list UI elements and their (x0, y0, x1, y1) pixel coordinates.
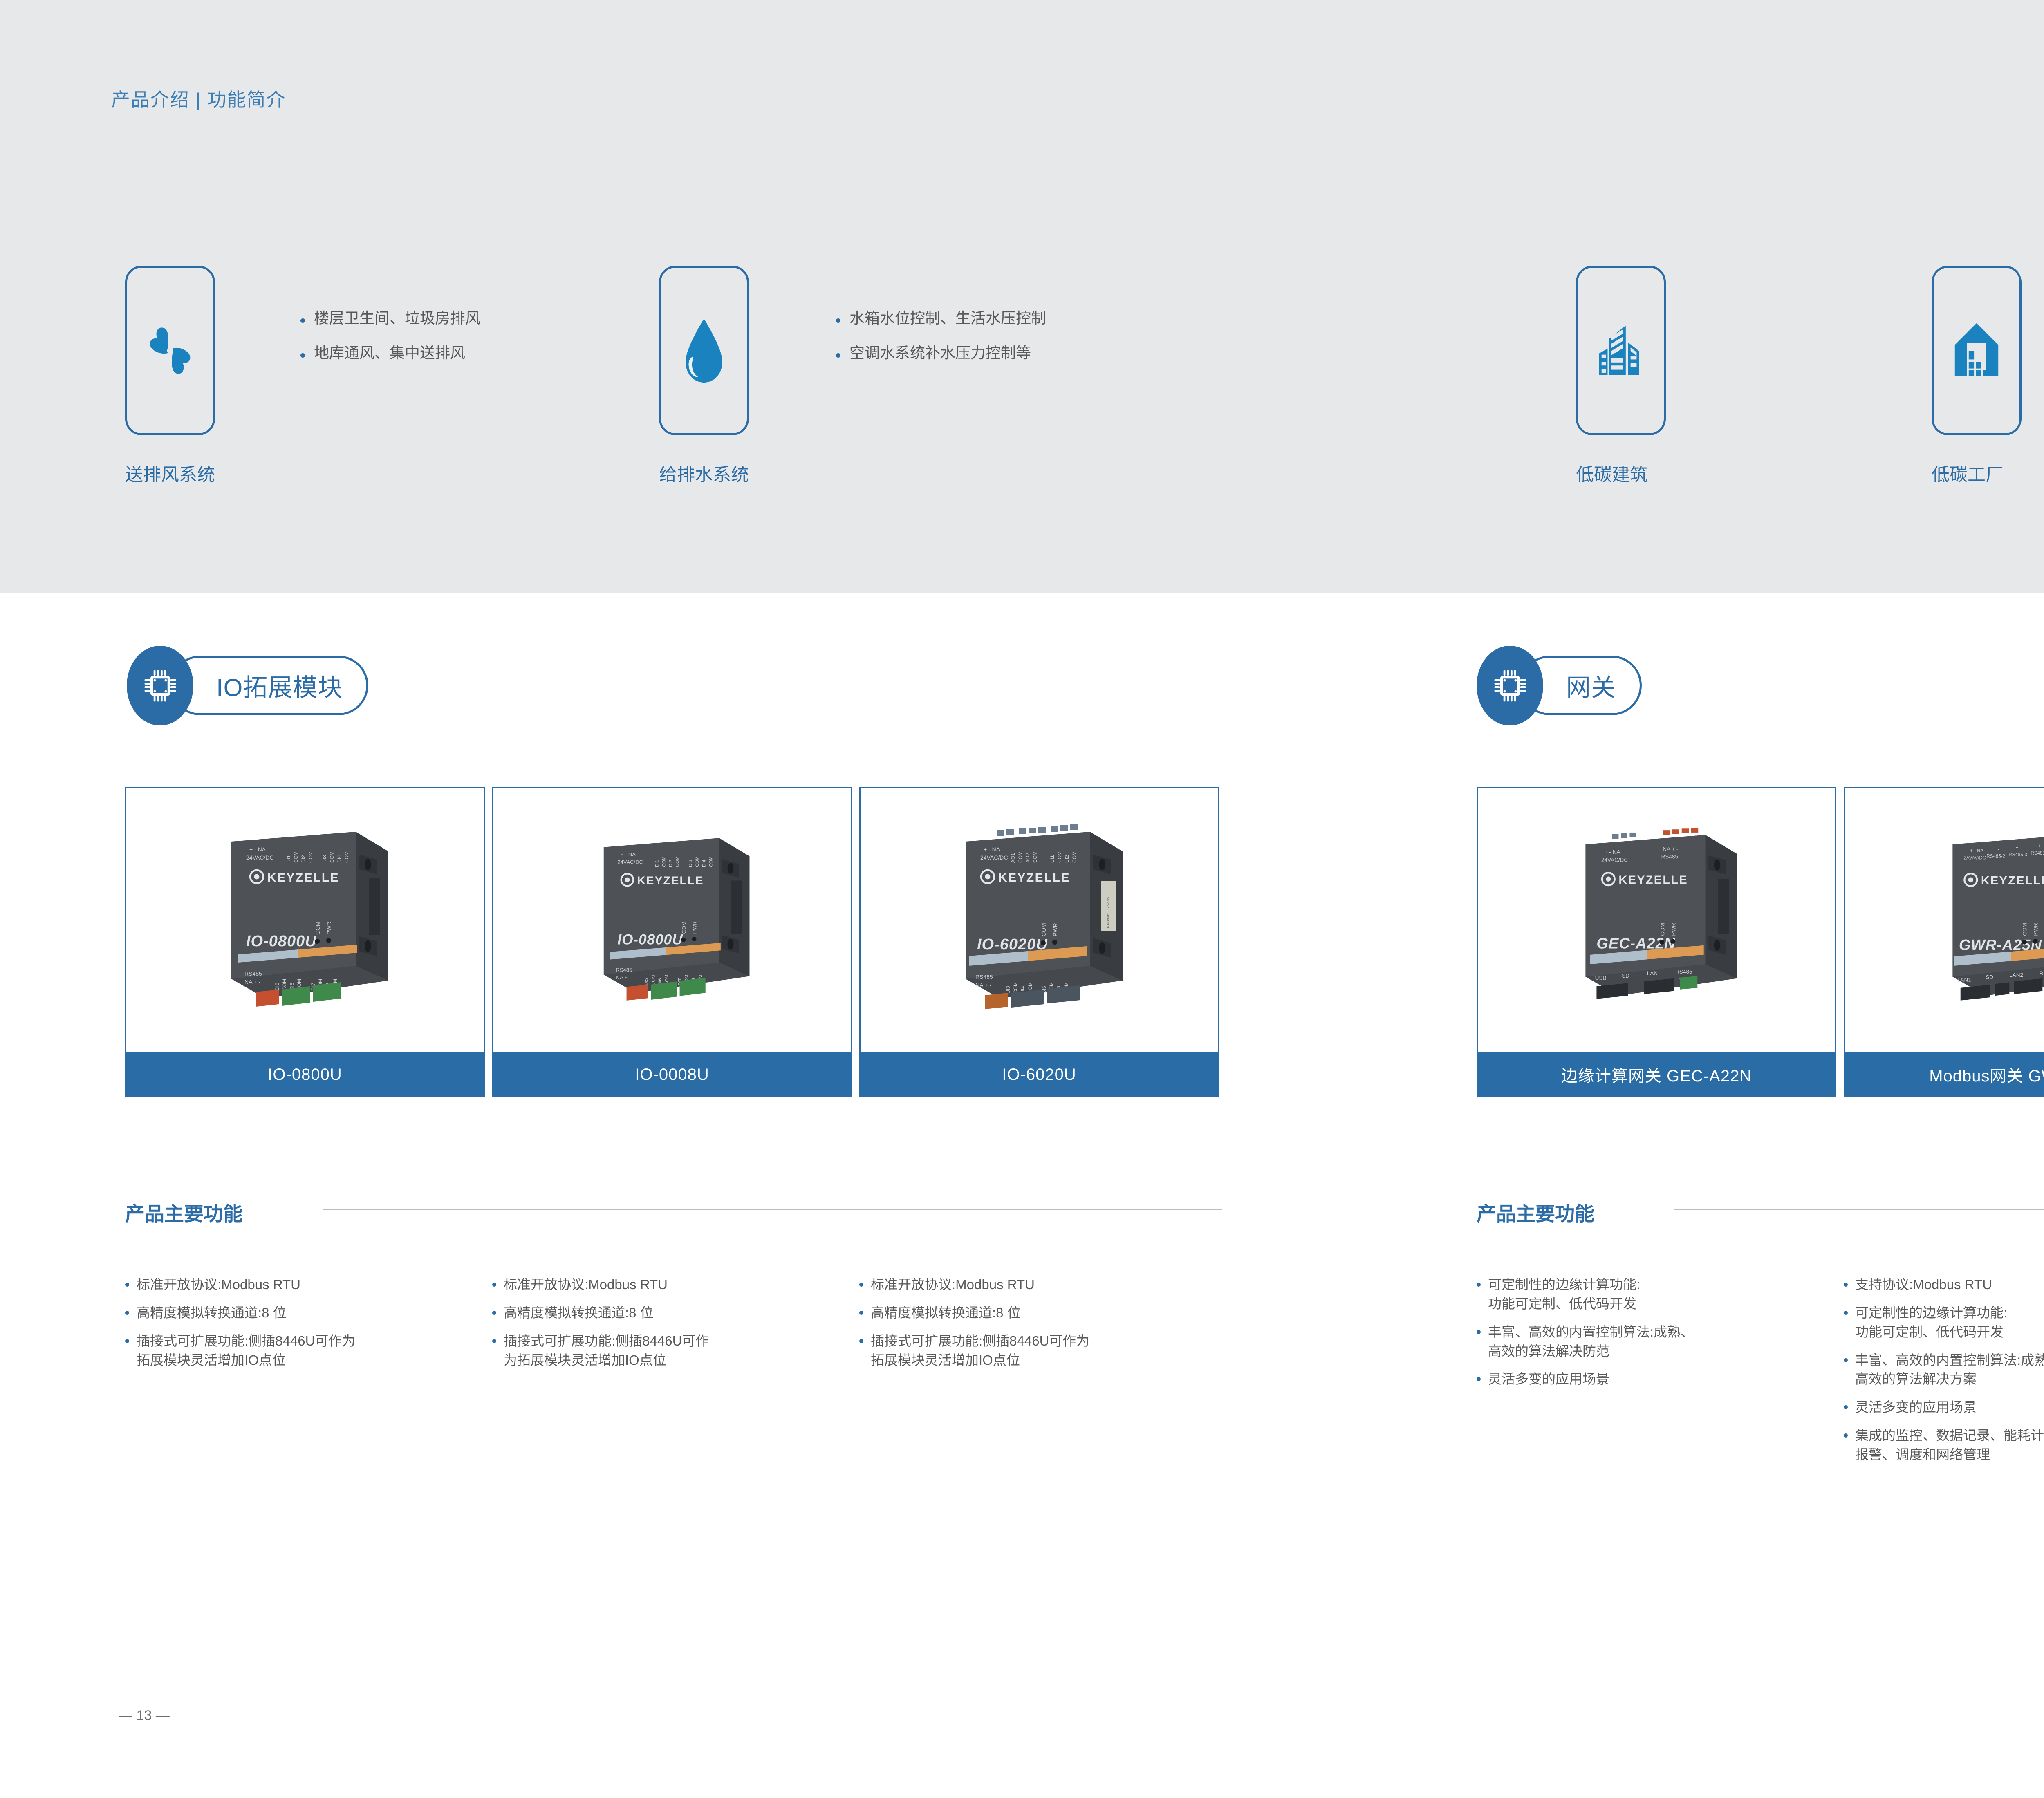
svg-text:COM: COM (1057, 851, 1062, 863)
svg-text:24VAC/DC: 24VAC/DC (246, 854, 273, 861)
features-title-io: 产品主要功能 (125, 1198, 243, 1226)
top-grey-band (0, 0, 2044, 593)
feature-column: 标准开放协议:Modbus RTU 高精度模拟转换通道:8 位 插接式可扩展功能… (125, 1275, 485, 1379)
svg-text:LAN: LAN (1647, 970, 1658, 976)
feature-text: 支持协议:Modbus RTU (1855, 1275, 1992, 1294)
svg-text:RS485: RS485 (244, 970, 262, 977)
feature-text: 高精度模拟转换通道:8 位 (871, 1303, 1021, 1323)
product-label: IO-6020U (1002, 1066, 1076, 1084)
app-tile-ventilation (125, 266, 215, 435)
bullet-dot-icon (492, 1311, 496, 1315)
feature-text: 标准开放协议:Modbus RTU (504, 1275, 668, 1294)
bullet-dot-icon (492, 1283, 496, 1287)
svg-text:COM: COM (308, 851, 314, 863)
feature-column: 标准开放协议:Modbus RTU 高精度模拟转换通道:8 位 插接式可扩展功能… (492, 1275, 852, 1379)
product-image-frame: + - NA 24VAC/DC DI1 COM DI2 COM DI3 COM … (125, 787, 485, 1052)
svg-text:+ - NA: + - NA (1970, 849, 1983, 853)
svg-text:COM: COM (2022, 923, 2028, 936)
svg-text:DI5: DI5 (274, 983, 280, 990)
svg-text:KEYZELLE: KEYZELLE (637, 874, 704, 887)
svg-text:+ -: + - (2038, 844, 2044, 849)
bullet-dot-icon (1477, 1330, 1481, 1334)
svg-text:UI1: UI1 (1049, 855, 1055, 863)
office-building-icon (1590, 316, 1652, 385)
svg-text:DI5: DI5 (644, 978, 649, 985)
feature-text: 高精度模拟转换通道:8 位 (504, 1303, 654, 1323)
bullet-dot-icon (492, 1339, 496, 1343)
svg-text:RS485-2: RS485-2 (1986, 854, 2005, 859)
bullet-dot-icon (1477, 1377, 1481, 1381)
svg-text:DI3: DI3 (688, 860, 693, 867)
bullet-dot-icon (1477, 1283, 1481, 1287)
device-photo-gwr-a25n: + - NA + - + - + - + - 2AVAV/DC RS485-2 … (1897, 810, 2044, 1030)
scenario-caption-building: 低碳建筑 (1576, 460, 1648, 486)
svg-text:COM: COM (314, 921, 321, 935)
svg-text:COM: COM (1040, 923, 1047, 936)
svg-text:IO-8446U RS485: IO-8446U RS485 (1106, 896, 1111, 928)
bullet-text: 地库通风、集中送排风 (314, 345, 465, 360)
svg-text:2AVAV/DC: 2AVAV/DC (1963, 855, 1986, 860)
feature-column: 支持协议:Modbus RTU 可定制性的边缘计算功能: 功能可定制、低代码开发… (1844, 1275, 2044, 1473)
svg-text:COM: COM (1659, 923, 1665, 936)
svg-text:COM: COM (681, 921, 687, 934)
svg-text:UI2: UI2 (1064, 855, 1070, 863)
bullet-dot-icon (125, 1311, 129, 1315)
section-badge-pill-io: IO拓展模块 (170, 656, 368, 715)
svg-text:NA + -: NA + - (1663, 846, 1678, 852)
microchip-icon (127, 646, 193, 725)
svg-text:SD: SD (1622, 972, 1629, 978)
svg-text:+ -: + - (2016, 845, 2022, 850)
product-label: 边缘计算网关 GEC-A22N (1561, 1063, 1752, 1086)
feature-column: 标准开放协议:Modbus RTU 高精度模拟转换通道:8 位 插接式可扩展功能… (859, 1275, 1219, 1379)
feature-text: 集成的监控、数据记录、能耗计量、 报警、调度和网络管理 (1855, 1426, 2044, 1464)
svg-text:24VAC/DC: 24VAC/DC (1601, 857, 1628, 863)
bullet-dot-icon (300, 353, 305, 358)
device-photo-gec-a22n: + - NA 24VAC/DC NA + - RS485 KEYZELLE GE… (1530, 810, 1783, 1030)
svg-text:IO-0800U: IO-0800U (246, 933, 317, 950)
product-label-bar: 边缘计算网关 GEC-A22N (1477, 1052, 1836, 1097)
bullet-dot-icon (1844, 1311, 1848, 1315)
feature-text: 标准开放协议:Modbus RTU (137, 1275, 300, 1294)
bullet-dot-icon (836, 318, 840, 323)
bullet-dot-icon (1844, 1283, 1848, 1287)
svg-text:DI1: DI1 (655, 860, 660, 867)
bullet-text: 楼层卫生间、垃圾房排风 (314, 311, 480, 326)
svg-text:PWR: PWR (1670, 923, 1676, 936)
section-badge-label-io: IO拓展模块 (216, 668, 343, 703)
feature-text: 灵活多变的应用场景 (1488, 1370, 1609, 1389)
svg-text:NA + -: NA + - (975, 982, 992, 988)
app-caption-water: 给排水系统 (659, 460, 749, 486)
product-label-bar: Modbus网关 GWR-A25N (1844, 1052, 2044, 1097)
app-tile-water (659, 266, 749, 435)
product-image-frame: + - NA 24VAC/DC NA + - RS485 KEYZELLE GE… (1477, 787, 1836, 1052)
svg-text:PWR: PWR (326, 921, 332, 935)
feature-text: 高精度模拟转换通道:8 位 (137, 1303, 287, 1323)
svg-text:PWR: PWR (691, 921, 697, 934)
product-label: IO-0008U (635, 1066, 709, 1084)
svg-text:+ - NA: + - NA (621, 851, 636, 858)
svg-text:KEYZELLE: KEYZELLE (998, 871, 1070, 884)
product-label: IO-0800U (268, 1066, 342, 1084)
svg-text:COM: COM (661, 856, 666, 867)
feature-text: 插接式可扩展功能:侧插8446U可作 为拓展模块灵活增加IO点位 (504, 1332, 709, 1370)
bullet-dot-icon (859, 1283, 863, 1287)
feature-text: 可定制性的边缘计算功能: 功能可定制、低代码开发 (1488, 1275, 1640, 1314)
app-bullets-ventilation: 楼层卫生间、垃圾房排风 地库通风、集中送排风 (300, 311, 480, 380)
svg-text:COM: COM (293, 851, 299, 863)
svg-text:IO-0800U: IO-0800U (617, 931, 683, 947)
product-label-bar: IO-0800U (125, 1052, 485, 1097)
features-rule-gateway (1674, 1209, 2044, 1210)
page-number-left: — 13 — (119, 1708, 170, 1724)
product-card[interactable]: IO-8446U RS485 + - NA 24VAC/DC AO1 COM A… (859, 787, 1219, 1097)
bullet-dot-icon (1844, 1358, 1848, 1362)
product-image-frame: + - NA 24VAC/DC DI1 COM DI2 COM DI3 COM … (492, 787, 852, 1052)
feature-text: 可定制性的边缘计算功能: 功能可定制、低代码开发 (1855, 1303, 2007, 1342)
svg-text:SD: SD (1986, 974, 1993, 980)
bullet-dot-icon (859, 1339, 863, 1343)
svg-text:NA + -: NA + - (616, 974, 631, 980)
features-rule-io (323, 1209, 1222, 1210)
svg-text:RS485-3: RS485-3 (2008, 852, 2027, 857)
bullet-text: 水箱水位控制、生活水压控制 (849, 311, 1046, 326)
product-image-frame: + - NA + - + - + - + - 2AVAV/DC RS485-2 … (1844, 787, 2044, 1052)
svg-text:COM: COM (695, 856, 700, 867)
svg-text:AO1: AO1 (1010, 853, 1016, 862)
bullet-dot-icon (1844, 1433, 1848, 1438)
svg-text:RS485: RS485 (1675, 969, 1692, 975)
svg-text:KEYZELLE: KEYZELLE (267, 871, 339, 884)
device-photo-io-6020u: IO-8446U RS485 + - NA 24VAC/DC AO1 COM A… (908, 806, 1170, 1034)
svg-text:LAN1: LAN1 (1957, 976, 1971, 983)
svg-text:RS485-4: RS485-4 (2031, 851, 2044, 855)
svg-text:COM: COM (1013, 982, 1018, 994)
svg-text:COM: COM (344, 851, 350, 863)
app-bullets-water: 水箱水位控制、生活水压控制 空调水系统补水压力控制等 (836, 311, 1046, 380)
device-photo-io-0800u: + - NA 24VAC/DC DI1 COM DI2 COM DI3 COM … (174, 806, 436, 1034)
product-card[interactable]: + - NA 24VAC/DC DI1 COM DI2 COM DI3 COM … (492, 787, 852, 1097)
svg-text:KEYZELLE: KEYZELLE (1981, 874, 2044, 887)
fan-icon (139, 320, 201, 381)
feature-text: 插接式可扩展功能:侧插8446U可作为 拓展模块灵活增加IO点位 (871, 1332, 1089, 1370)
bullet-dot-icon (300, 318, 305, 323)
svg-text:AO2: AO2 (1025, 853, 1031, 862)
svg-text:COM: COM (1032, 851, 1038, 863)
svg-text:RS485: RS485 (975, 974, 993, 980)
feature-text: 丰富、高效的内置控制算法:成熟、 高效的算法解决防范 (1488, 1323, 1694, 1361)
feature-column: 可定制性的边缘计算功能: 功能可定制、低代码开发 丰富、高效的内置控制算法:成熟… (1477, 1275, 1836, 1398)
svg-text:COM: COM (675, 856, 680, 867)
scenario-caption-factory: 低碳工厂 (1932, 460, 2004, 486)
svg-text:DI3: DI3 (322, 855, 327, 863)
feature-text: 灵活多变的应用场景 (1855, 1398, 1977, 1417)
product-label-bar: IO-0008U (492, 1052, 852, 1097)
product-card[interactable]: + - NA + - + - + - + - 2AVAV/DC RS485-2 … (1844, 787, 2044, 1097)
bullet-text: 空调水系统补水压力控制等 (849, 345, 1031, 360)
svg-text:DI2: DI2 (300, 855, 306, 863)
scenario-tile-factory (1932, 266, 2022, 435)
svg-text:DI1: DI1 (286, 855, 291, 863)
svg-text:24VAC/DC: 24VAC/DC (980, 854, 1008, 861)
product-image-frame: IO-8446U RS485 + - NA 24VAC/DC AO1 COM A… (859, 787, 1219, 1052)
feature-text: 丰富、高效的内置控制算法:成熟、 高效的算法解决方案 (1855, 1351, 2044, 1389)
svg-text:KEYZELLE: KEYZELLE (1618, 873, 1688, 887)
product-card[interactable]: + - NA 24VAC/DC NA + - RS485 KEYZELLE GE… (1477, 787, 1836, 1097)
svg-text:+ -: + - (1994, 847, 1999, 852)
factory-icon (1946, 316, 2007, 385)
svg-text:RS485: RS485 (1661, 853, 1678, 860)
feature-text: 标准开放协议:Modbus RTU (871, 1275, 1035, 1294)
features-title-gateway: 产品主要功能 (1477, 1198, 1594, 1226)
section-badge-label-gateway: 网关 (1566, 668, 1616, 703)
svg-text:24VAC/DC: 24VAC/DC (617, 859, 643, 865)
svg-text:USB: USB (1595, 975, 1607, 981)
svg-text:+ - NA: + - NA (249, 846, 266, 853)
scenario-tile-building (1576, 266, 1666, 435)
svg-text:PWR: PWR (1052, 923, 1058, 936)
product-card[interactable]: + - NA 24VAC/DC DI1 COM DI2 COM DI3 COM … (125, 787, 485, 1097)
svg-text:COM: COM (329, 851, 335, 863)
svg-text:RS485: RS485 (616, 967, 632, 973)
svg-text:COM: COM (1071, 851, 1077, 863)
svg-text:LAN2: LAN2 (2009, 972, 2023, 978)
bullet-dot-icon (1844, 1405, 1848, 1409)
svg-text:UI3: UI3 (1005, 986, 1011, 994)
svg-text:+ - NA: + - NA (1605, 849, 1620, 855)
bullet-dot-icon (125, 1339, 129, 1343)
app-caption-ventilation: 送排风系统 (125, 460, 215, 486)
water-drop-icon (673, 314, 735, 387)
svg-text:COM: COM (651, 974, 656, 985)
svg-text:+ - NA: + - NA (984, 846, 1000, 853)
svg-text:COM: COM (1018, 851, 1023, 863)
product-label-bar: IO-6020U (859, 1052, 1219, 1097)
svg-text:COM: COM (282, 979, 287, 990)
product-label: Modbus网关 GWR-A25N (1929, 1063, 2044, 1086)
svg-text:PWR: PWR (2033, 923, 2039, 936)
page-header-left: 产品介绍 | 功能简介 (111, 85, 286, 112)
bullet-dot-icon (836, 353, 840, 358)
svg-text:DI2: DI2 (668, 860, 673, 867)
svg-text:NA + -: NA + - (244, 978, 261, 985)
svg-text:DI4: DI4 (336, 855, 342, 863)
bullet-dot-icon (125, 1283, 129, 1287)
svg-text:COM: COM (708, 856, 713, 867)
svg-text:DI4: DI4 (702, 860, 707, 867)
microchip-icon (1477, 646, 1543, 725)
feature-text: 插接式可扩展功能:侧插8446U可作为 拓展模块灵活增加IO点位 (137, 1332, 355, 1370)
device-photo-io-0008u: + - NA 24VAC/DC DI1 COM DI2 COM DI3 COM … (549, 814, 795, 1026)
svg-text:RS485-1: RS485-1 (2040, 970, 2044, 976)
bullet-dot-icon (859, 1311, 863, 1315)
